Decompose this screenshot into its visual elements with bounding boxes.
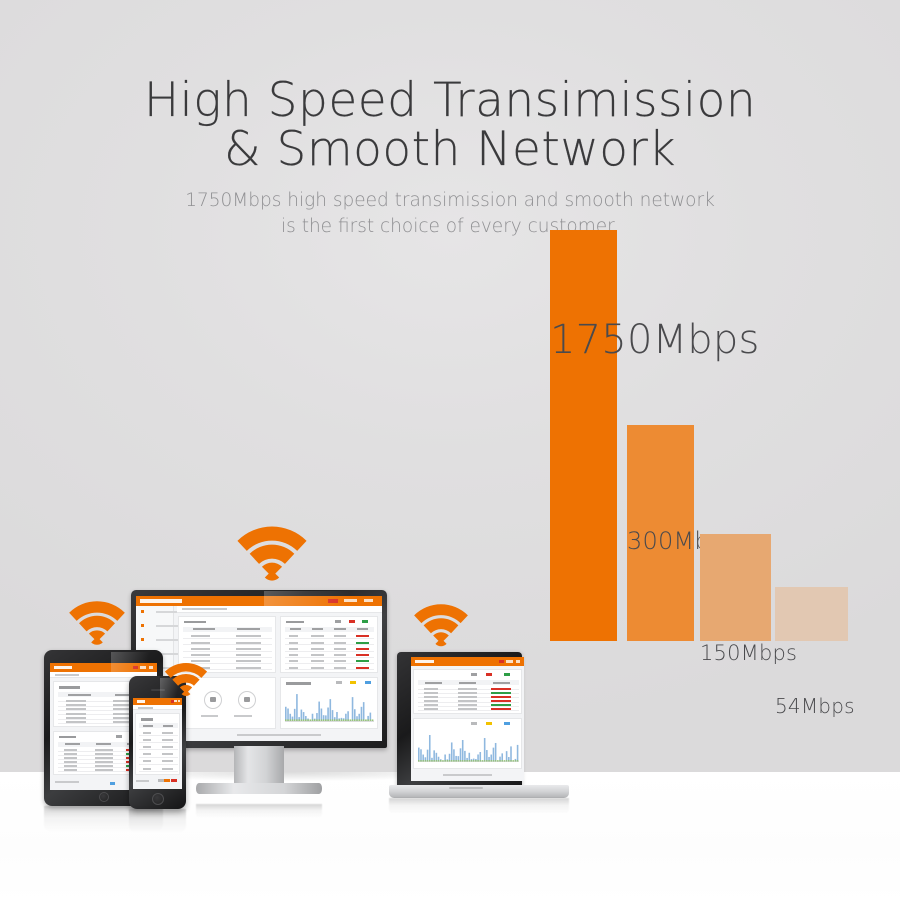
table-cell <box>289 660 298 662</box>
chart-legend <box>336 681 375 684</box>
table-cell <box>424 692 438 694</box>
app-logo <box>54 666 72 669</box>
table-cell <box>64 753 77 755</box>
table-cell <box>236 667 262 669</box>
wifi-signal-left-icon <box>68 600 126 646</box>
laptop-lid <box>397 652 522 787</box>
table-cell <box>491 708 511 710</box>
table-row-divider <box>139 749 178 750</box>
column-header <box>193 628 215 630</box>
table-cell <box>191 654 210 656</box>
pagination-indicator <box>110 782 115 785</box>
table-cell <box>162 760 173 762</box>
column-header <box>493 682 510 684</box>
sidebar-item-label <box>156 611 180 613</box>
table-row-divider <box>285 638 374 639</box>
column-header <box>290 628 301 630</box>
tablet-home-button[interactable] <box>99 792 109 802</box>
phone-reflection <box>129 809 186 833</box>
footer-note <box>237 734 321 736</box>
sidebar-item-label <box>156 625 180 627</box>
phone-dashboard <box>133 698 182 789</box>
table-cell <box>458 688 478 690</box>
card-legend <box>335 620 374 623</box>
table-cell <box>162 768 173 770</box>
table-cell <box>424 700 438 702</box>
table-cell <box>236 660 262 662</box>
footer-note <box>55 781 79 783</box>
sidebar-item-label <box>156 639 180 641</box>
table-cell <box>236 635 262 637</box>
table-cell <box>236 648 262 650</box>
card-legend <box>471 673 523 676</box>
table-cell <box>311 667 324 669</box>
table-cell <box>356 654 369 656</box>
table-row-divider <box>139 742 178 743</box>
table-cell <box>95 769 113 771</box>
monitor-reflection <box>196 804 322 818</box>
table-row-divider <box>285 669 374 670</box>
table-cell <box>95 749 113 751</box>
app-logo <box>415 660 434 663</box>
client-list-card <box>413 669 522 714</box>
table-cell <box>66 721 86 723</box>
column-header <box>237 628 259 630</box>
table-cell <box>162 739 173 741</box>
traffic-chart-card <box>413 718 522 769</box>
table-cell <box>143 760 151 762</box>
laptop-dashboard <box>411 657 524 781</box>
table-cell <box>289 654 298 656</box>
table-cell <box>356 635 369 637</box>
table-cell <box>162 746 173 748</box>
table-cell <box>491 692 511 694</box>
table-cell <box>491 704 511 706</box>
table-row-divider <box>139 764 178 765</box>
table-cell <box>311 660 324 662</box>
table-cell <box>334 667 347 669</box>
table-cell <box>143 768 151 770</box>
table-cell <box>95 753 113 755</box>
breadcrumb <box>133 705 182 710</box>
table-cell <box>458 692 478 694</box>
phone-home-button[interactable] <box>152 793 164 805</box>
sidebar-item-icon <box>141 624 144 627</box>
table-cell <box>356 667 369 669</box>
table-cell <box>66 713 86 715</box>
traffic-sparkline <box>418 729 519 762</box>
table-row-divider <box>285 651 374 652</box>
table-row-divider <box>183 638 272 639</box>
column-header <box>163 725 173 727</box>
table-cell <box>334 654 347 656</box>
table-cell <box>289 648 298 650</box>
device-info-card <box>135 713 180 775</box>
table-cell <box>311 648 324 650</box>
poster-canvas: High Speed Transimission & Smooth Networ… <box>0 0 900 903</box>
table-cell <box>64 757 77 759</box>
column-header <box>312 628 323 630</box>
table-cell <box>334 660 347 662</box>
notification-badge <box>499 660 504 664</box>
table-cell <box>162 732 173 734</box>
table-cell <box>334 642 347 644</box>
table-cell <box>143 732 151 734</box>
card-title <box>59 736 76 739</box>
tablet-glare <box>111 652 161 674</box>
column-header <box>96 743 112 745</box>
table-cell <box>289 642 298 644</box>
table-cell <box>64 769 77 771</box>
laptop-trackpad-notch <box>449 787 483 789</box>
client-list-card <box>280 616 378 674</box>
table-row-divider <box>139 757 178 758</box>
column-header <box>459 682 476 684</box>
table-cell <box>311 654 324 656</box>
traffic-chart-card <box>280 677 378 729</box>
device-cluster <box>0 0 900 903</box>
table-cell <box>334 635 347 637</box>
column-header <box>143 725 153 727</box>
laptop-reflection <box>389 798 569 814</box>
user-menu-button <box>506 660 512 663</box>
monitor-stand-neck <box>234 746 284 786</box>
table-cell <box>191 642 210 644</box>
column-header <box>334 628 345 630</box>
card-title <box>184 621 206 624</box>
column-header <box>68 694 91 696</box>
table-cell <box>491 700 511 702</box>
breadcrumb <box>177 606 382 613</box>
footer-note <box>443 774 493 776</box>
table-cell <box>143 739 151 741</box>
table-cell <box>236 642 262 644</box>
table-row-divider <box>139 735 178 736</box>
table-cell <box>458 700 478 702</box>
laptop-screen <box>411 657 524 781</box>
app-logo <box>140 599 182 603</box>
table-cell <box>95 761 113 763</box>
table-cell <box>458 704 478 706</box>
table-cell <box>64 761 77 763</box>
table-row-divider <box>285 644 374 645</box>
table-cell <box>289 635 298 637</box>
table-cell <box>66 704 86 706</box>
laptop <box>389 652 569 810</box>
wan-settings-action <box>238 691 256 709</box>
table-cell <box>162 753 173 755</box>
table-row-divider <box>139 771 178 772</box>
table-cell <box>95 757 113 759</box>
user-menu-button <box>174 700 177 702</box>
table-cell <box>143 746 151 748</box>
table-cell <box>191 648 210 650</box>
table-row-divider <box>183 651 272 652</box>
table-row-divider <box>285 657 374 658</box>
table-cell <box>64 765 77 767</box>
table-row-divider <box>285 663 374 664</box>
footer-note <box>136 780 149 782</box>
logout-button <box>178 700 180 702</box>
table-cell <box>143 753 151 755</box>
chart-legend <box>471 722 523 725</box>
sidebar-item-icon <box>141 610 144 613</box>
table-cell <box>458 708 478 710</box>
table-cell <box>66 717 86 719</box>
app-logo <box>137 700 145 703</box>
table-cell <box>95 765 113 767</box>
logout-button <box>516 660 521 663</box>
table-cell <box>311 635 324 637</box>
table-cell <box>236 654 262 656</box>
table-cell <box>424 696 438 698</box>
table-cell <box>356 648 369 650</box>
card-title <box>141 718 153 721</box>
table-cell <box>64 749 77 751</box>
table-cell <box>191 635 210 637</box>
phone-screen <box>133 698 182 789</box>
table-cell <box>334 648 347 650</box>
table-cell <box>356 660 369 662</box>
table-cell <box>458 696 478 698</box>
action-label <box>201 715 219 717</box>
table-cell <box>356 642 369 644</box>
pager-legend <box>158 779 181 782</box>
table-cell <box>424 688 438 690</box>
table-cell <box>66 708 86 710</box>
table-cell <box>491 696 511 698</box>
table-cell <box>491 688 511 690</box>
card-title <box>286 682 311 685</box>
table-cell <box>289 667 298 669</box>
wifi-signal-center-icon <box>164 662 208 697</box>
table-cell <box>311 642 324 644</box>
card-title <box>286 621 304 624</box>
table-cell <box>424 704 438 706</box>
card-title <box>59 686 80 689</box>
column-header <box>65 743 81 745</box>
table-cell <box>66 700 86 702</box>
column-header <box>357 628 368 630</box>
table-cell <box>424 708 438 710</box>
monitor-glare <box>264 591 382 607</box>
wifi-signal-top-icon <box>236 525 308 583</box>
column-header <box>425 682 442 684</box>
action-label <box>234 715 252 717</box>
wifi-signal-right-icon <box>413 603 469 648</box>
traffic-sparkline <box>285 688 374 722</box>
sidebar-item-icon <box>141 638 144 641</box>
monitor-stand-foot <box>196 783 322 794</box>
table-row-divider <box>183 657 272 658</box>
table-row-divider <box>183 644 272 645</box>
